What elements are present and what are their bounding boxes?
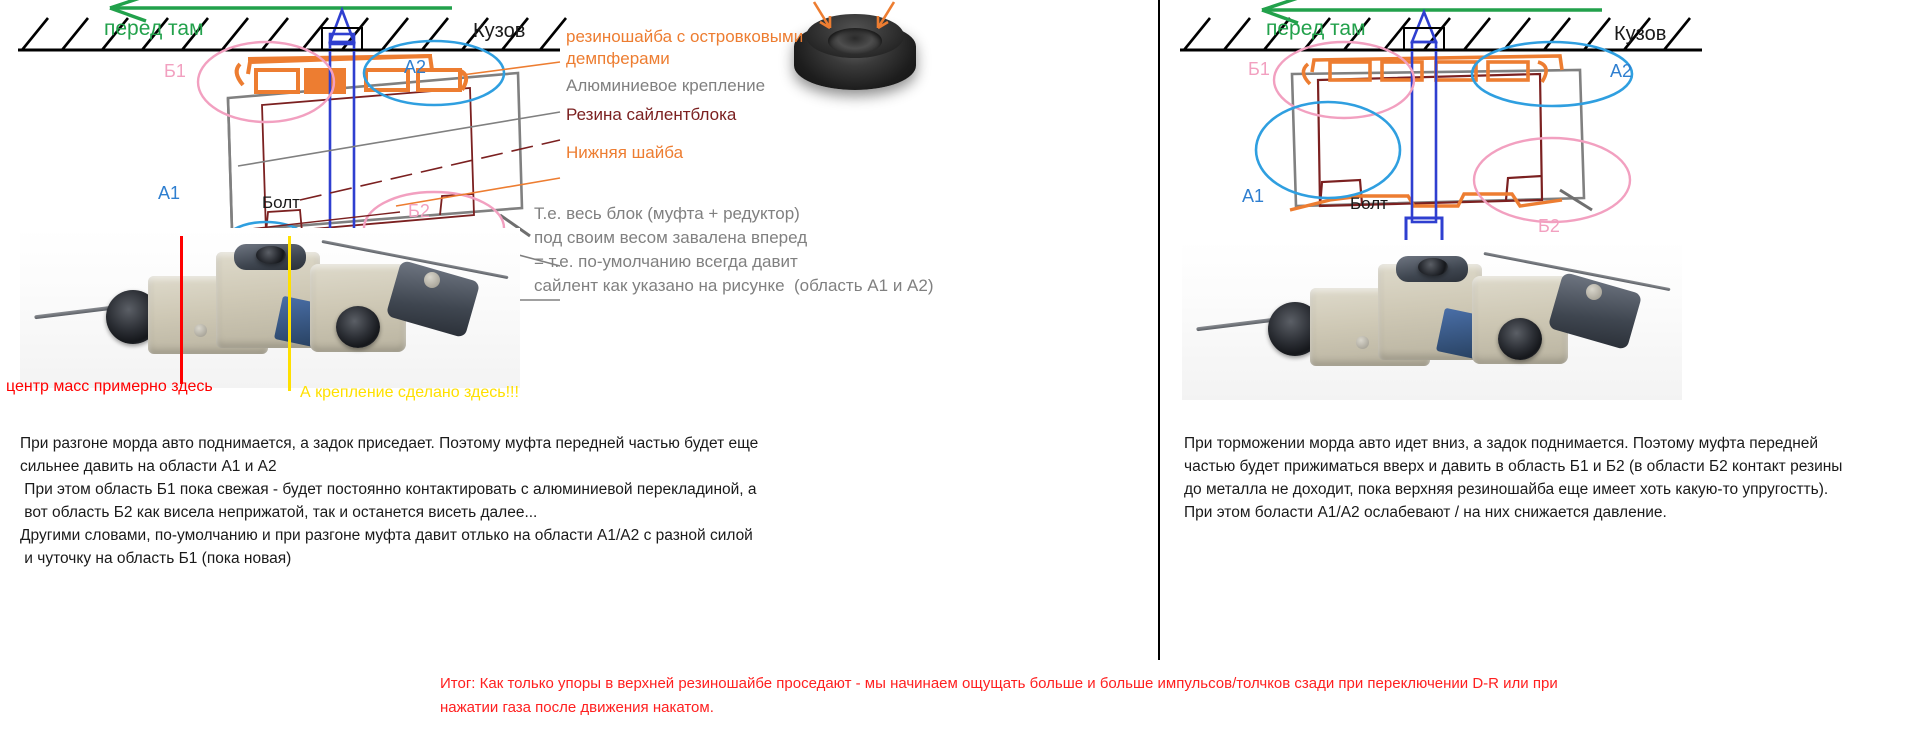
zone-b2-label: Б2 [408, 200, 430, 223]
right-paragraph-line-2: частью будет прижиматься вверх и давить … [1184, 455, 1842, 478]
bolt-label: Болт [262, 192, 300, 213]
left-paragraph-line-2: сильнее давить на области А1 и А2 [20, 455, 277, 478]
zone-a1-label-right: А1 [1242, 185, 1264, 208]
legend-item-rubber-washer-line1: резиношайба с островковыми [566, 26, 803, 47]
zone-a2-ellipse-right [1472, 42, 1632, 106]
right-paragraph-line-3: до металла не доходит, пока верхняя рези… [1184, 478, 1828, 501]
silentblock-rubber-right [1318, 74, 1542, 206]
zone-a2-label: А2 [404, 56, 426, 79]
center-of-mass-line [180, 236, 183, 384]
left-diagram-panel: перед там Кузов Болт Б1 А2 А1 Б2 резинош… [0, 0, 1158, 742]
note-line-4: сайлент как указано на рисунке (область … [534, 275, 934, 296]
right-diagram-panel: перед там Кузов Болт Б1 А2 А1 Б2 При тор… [1162, 0, 1920, 742]
note-line-1: Т.е. весь блок (муфта + редуктор) [534, 203, 800, 224]
zone-b2-ellipse-right [1474, 138, 1630, 222]
rubber-mount-photo [790, 0, 920, 96]
legend-item-aluminium: Алюминиевое крепление [566, 75, 765, 96]
zone-a2-label-right: А2 [1610, 60, 1632, 83]
panel-divider [1158, 0, 1160, 660]
gearbox-photo-left [20, 228, 520, 388]
summary-line-1: Итог: Как только упоры в верхней резинош… [440, 672, 1558, 695]
mount-point-caption: А крепление сделано здесь!!! [300, 383, 519, 403]
bolt-label-right: Болт [1350, 193, 1388, 214]
legend-item-silentblock: Резина сайлентблока [566, 104, 736, 125]
zone-b1-label: Б1 [164, 60, 186, 83]
zone-b2-label-right: Б2 [1538, 215, 1560, 238]
legend-item-rubber-washer-line2: демпферами [566, 48, 670, 69]
bolt-graphic-right [1404, 12, 1444, 248]
right-paragraph-line-4: При этом боласти А1/А2 ослабевают / на н… [1184, 501, 1667, 524]
left-paragraph-line-5: Другими словами, по-умолчанию и при разг… [20, 524, 753, 547]
legend-item-lower-washer: Нижняя шайба [566, 142, 683, 163]
left-paragraph-line-1: При разгоне морда авто поднимается, а за… [20, 432, 758, 455]
right-paragraph-line-1: При торможении морда авто идет вниз, а з… [1184, 432, 1818, 455]
summary-line-2: нажатии газа после движения накатом. [440, 696, 714, 719]
center-of-mass-caption: центр масс примерно здесь [6, 377, 213, 397]
note-line-3: = т.е. по-умолчанию всегда давит [534, 251, 798, 272]
gearbox-photo-right [1182, 240, 1682, 400]
forward-direction-label: перед там [104, 16, 204, 42]
note-line-2: под своим весом завалена вперед [534, 227, 807, 248]
mount-arrows [790, 0, 920, 96]
mount-point-line [288, 236, 291, 391]
left-paragraph-line-3: При этом область Б1 пока свежая - будет … [20, 478, 757, 501]
aluminium-bracket-right [1292, 70, 1592, 210]
zone-b1-label-right: Б1 [1248, 58, 1270, 81]
zone-a1-label: А1 [158, 182, 180, 205]
forward-direction-label-right: перед там [1266, 16, 1366, 42]
left-paragraph-line-4: вот область Б2 как висела неприжатой, та… [20, 501, 537, 524]
left-paragraph-line-6: и чуточку на область Б1 (пока новая) [20, 547, 291, 570]
body-label: Кузов [473, 19, 525, 44]
body-label-right: Кузов [1614, 22, 1666, 47]
